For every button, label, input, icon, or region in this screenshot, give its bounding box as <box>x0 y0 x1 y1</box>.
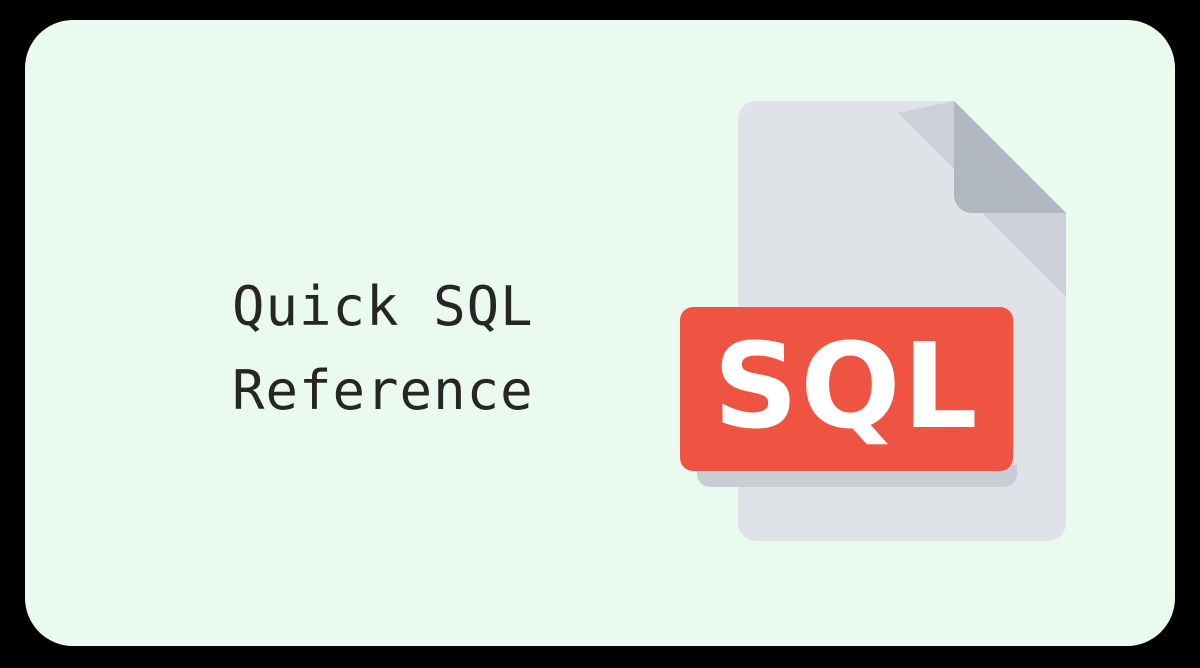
canvas: Quick SQL Reference SQL <box>0 0 1200 668</box>
title-line-1: Quick SQL <box>232 265 662 349</box>
card-surface: Quick SQL Reference SQL <box>25 20 1175 646</box>
corner-fold-shape <box>954 101 1066 213</box>
sql-badge: SQL <box>680 307 1013 471</box>
sql-badge-label: SQL <box>713 327 980 445</box>
title-line-2: Reference <box>232 349 662 433</box>
page-title: Quick SQL Reference <box>232 265 662 433</box>
